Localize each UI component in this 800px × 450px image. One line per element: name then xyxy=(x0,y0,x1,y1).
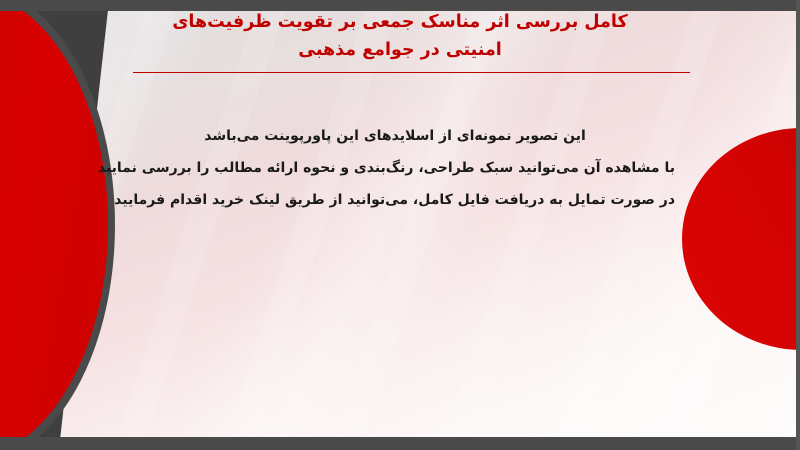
slide-content: کامل بررسی اثر مناسک جمعی بر تقویت ظرفیت… xyxy=(0,0,800,450)
slide-body-line-1: این تصویر نمونه‌ای از اسلایدهای این پاور… xyxy=(115,120,675,152)
bottom-frame-band xyxy=(0,437,800,450)
slide-body-text: این تصویر نمونه‌ای از اسلایدهای این پاور… xyxy=(115,120,675,216)
title-underline-rule xyxy=(133,72,690,73)
right-frame-band xyxy=(796,0,800,450)
slide-body-line-3: در صورت تمایل به دریافت فایل کامل، می‌تو… xyxy=(115,184,675,216)
slide-body-line-2: با مشاهده آن می‌توانید سبک طراحی، رنگ‌بن… xyxy=(115,152,675,184)
slide-title: کامل بررسی اثر مناسک جمعی بر تقویت ظرفیت… xyxy=(110,8,690,64)
slide-title-line-1: کامل بررسی اثر مناسک جمعی بر تقویت ظرفیت… xyxy=(110,8,690,36)
slide-title-line-2: امنیتی در جوامع مذهبی xyxy=(110,36,690,64)
presentation-slide: کامل بررسی اثر مناسک جمعی بر تقویت ظرفیت… xyxy=(0,0,800,450)
top-frame-band xyxy=(0,0,800,11)
